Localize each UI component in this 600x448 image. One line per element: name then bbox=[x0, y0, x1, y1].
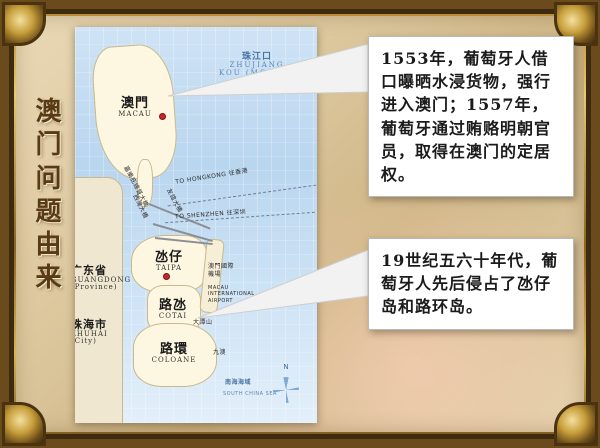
mainland-guangdong-landmass bbox=[75, 177, 123, 423]
macau-map-panel: 珠江口 ZHUJIANG KOU (MOUTH) 澳門 MACAU 氹仔 TAI… bbox=[75, 27, 317, 423]
annotation-macau-airport-cn: 澳門國際機場 bbox=[208, 263, 234, 278]
place-label-zhuhai: 珠海市 ZHUHAI (City) bbox=[75, 319, 125, 345]
poster-stage: 澳 门 问 题 由 来 珠江口 ZHUJIANG KOU (MOUTH) 澳門 … bbox=[0, 0, 600, 448]
sea-label-zhujiangkou: 珠江口 ZHUJIANG KOU (MOUTH) bbox=[217, 53, 297, 77]
annotation-taitam-hill: 大潭山 bbox=[193, 319, 213, 327]
title-char-5: 由 bbox=[26, 229, 72, 262]
annotation-kaho: 九澳 bbox=[213, 349, 226, 357]
annotation-south-china-sea-cn: 南海海域 bbox=[225, 379, 251, 387]
title-char-4: 题 bbox=[26, 196, 72, 229]
place-label-coloane: 路環 COLOANE bbox=[139, 343, 209, 364]
annotation-macau-airport-en: MACAU INTERNATIONAL AIRPORT bbox=[208, 285, 236, 304]
title-char-2: 门 bbox=[26, 129, 72, 162]
title-char-1: 澳 bbox=[26, 96, 72, 129]
place-label-taipa: 氹仔 TAIPA bbox=[137, 251, 201, 272]
page-title-vertical: 澳 门 问 题 由 来 bbox=[26, 96, 72, 296]
callout-text-box-1: 1553年，葡萄牙人借口曝晒水浸货物，强行进入澳门；1557年，葡萄牙通过贿赂明… bbox=[368, 36, 574, 197]
place-label-cotai: 路氹 COTAI bbox=[145, 299, 201, 320]
callout-text-box-2: 19世纪五六十年代，葡萄牙人先后侵占了氹仔岛和路环岛。 bbox=[368, 238, 574, 330]
title-char-6: 来 bbox=[26, 262, 72, 295]
map-marker-taipa bbox=[163, 273, 170, 280]
map-marker-macau bbox=[159, 113, 166, 120]
title-char-3: 问 bbox=[26, 163, 72, 196]
compass-rose-icon: N bbox=[269, 363, 303, 409]
place-label-guangdong: 广东省 GUANGDONG (Province) bbox=[75, 265, 125, 291]
compass-north-label: N bbox=[269, 363, 303, 371]
place-label-macau: 澳門 MACAU bbox=[103, 97, 167, 118]
compass-rose-shape bbox=[273, 377, 299, 403]
